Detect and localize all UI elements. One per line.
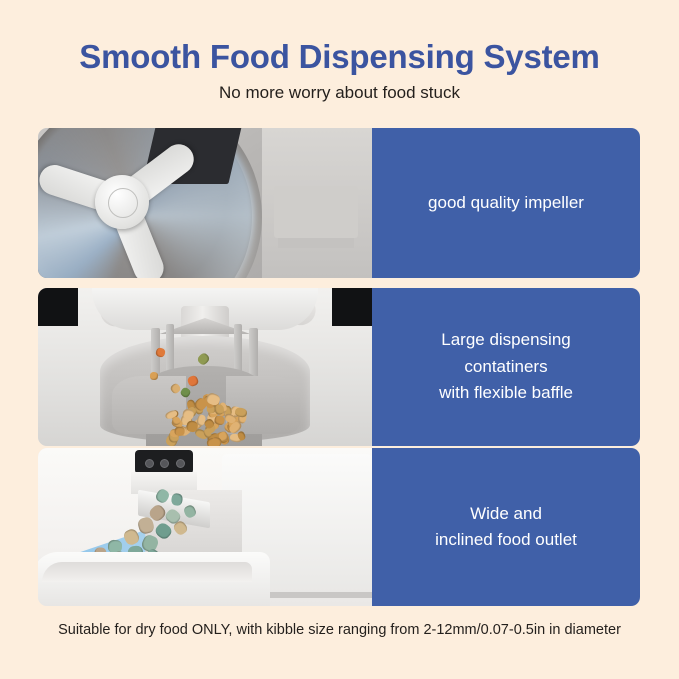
impeller-hub <box>95 175 149 229</box>
falling-kibble <box>150 372 159 381</box>
food-outlet-photo <box>38 448 372 606</box>
food-bowl <box>38 552 270 606</box>
dispensing-containers-photo <box>38 288 372 446</box>
feature-card-outlet: Wide and inclined food outlet <box>38 448 640 606</box>
hopper-side-wall <box>262 128 372 278</box>
food-bowl-inner <box>42 562 252 582</box>
photo-corner-shadow-right <box>332 288 372 326</box>
feature-label-line: Large dispensing <box>439 327 573 353</box>
photo-corner-shadow-left <box>38 288 78 326</box>
infographic-page: Smooth Food Dispensing System No more wo… <box>0 0 679 679</box>
control-button <box>145 459 154 468</box>
kibble-pile <box>164 394 250 446</box>
feature-label-line: inclined food outlet <box>435 527 577 553</box>
feature-label-line: contatiners <box>439 354 573 380</box>
control-button <box>160 459 169 468</box>
control-panel <box>135 450 193 474</box>
feature-label-containers: Large dispensing contatiners with flexib… <box>372 288 640 446</box>
feature-label-outlet: Wide and inclined food outlet <box>372 448 640 606</box>
footer-note: Suitable for dry food ONLY, with kibble … <box>0 622 679 638</box>
feature-label-line: Wide and <box>435 501 577 527</box>
feature-card-impeller: good quality impeller <box>38 128 640 278</box>
feature-label-line: good quality impeller <box>428 190 584 216</box>
feature-label-impeller: good quality impeller <box>372 128 640 278</box>
page-title: Smooth Food Dispensing System <box>0 38 679 76</box>
page-subtitle: No more worry about food stuck <box>0 83 679 103</box>
feature-card-containers: Large dispensing contatiners with flexib… <box>38 288 640 446</box>
feature-label-line: with flexible baffle <box>439 380 573 406</box>
impeller-photo <box>38 128 372 278</box>
control-button <box>176 459 185 468</box>
